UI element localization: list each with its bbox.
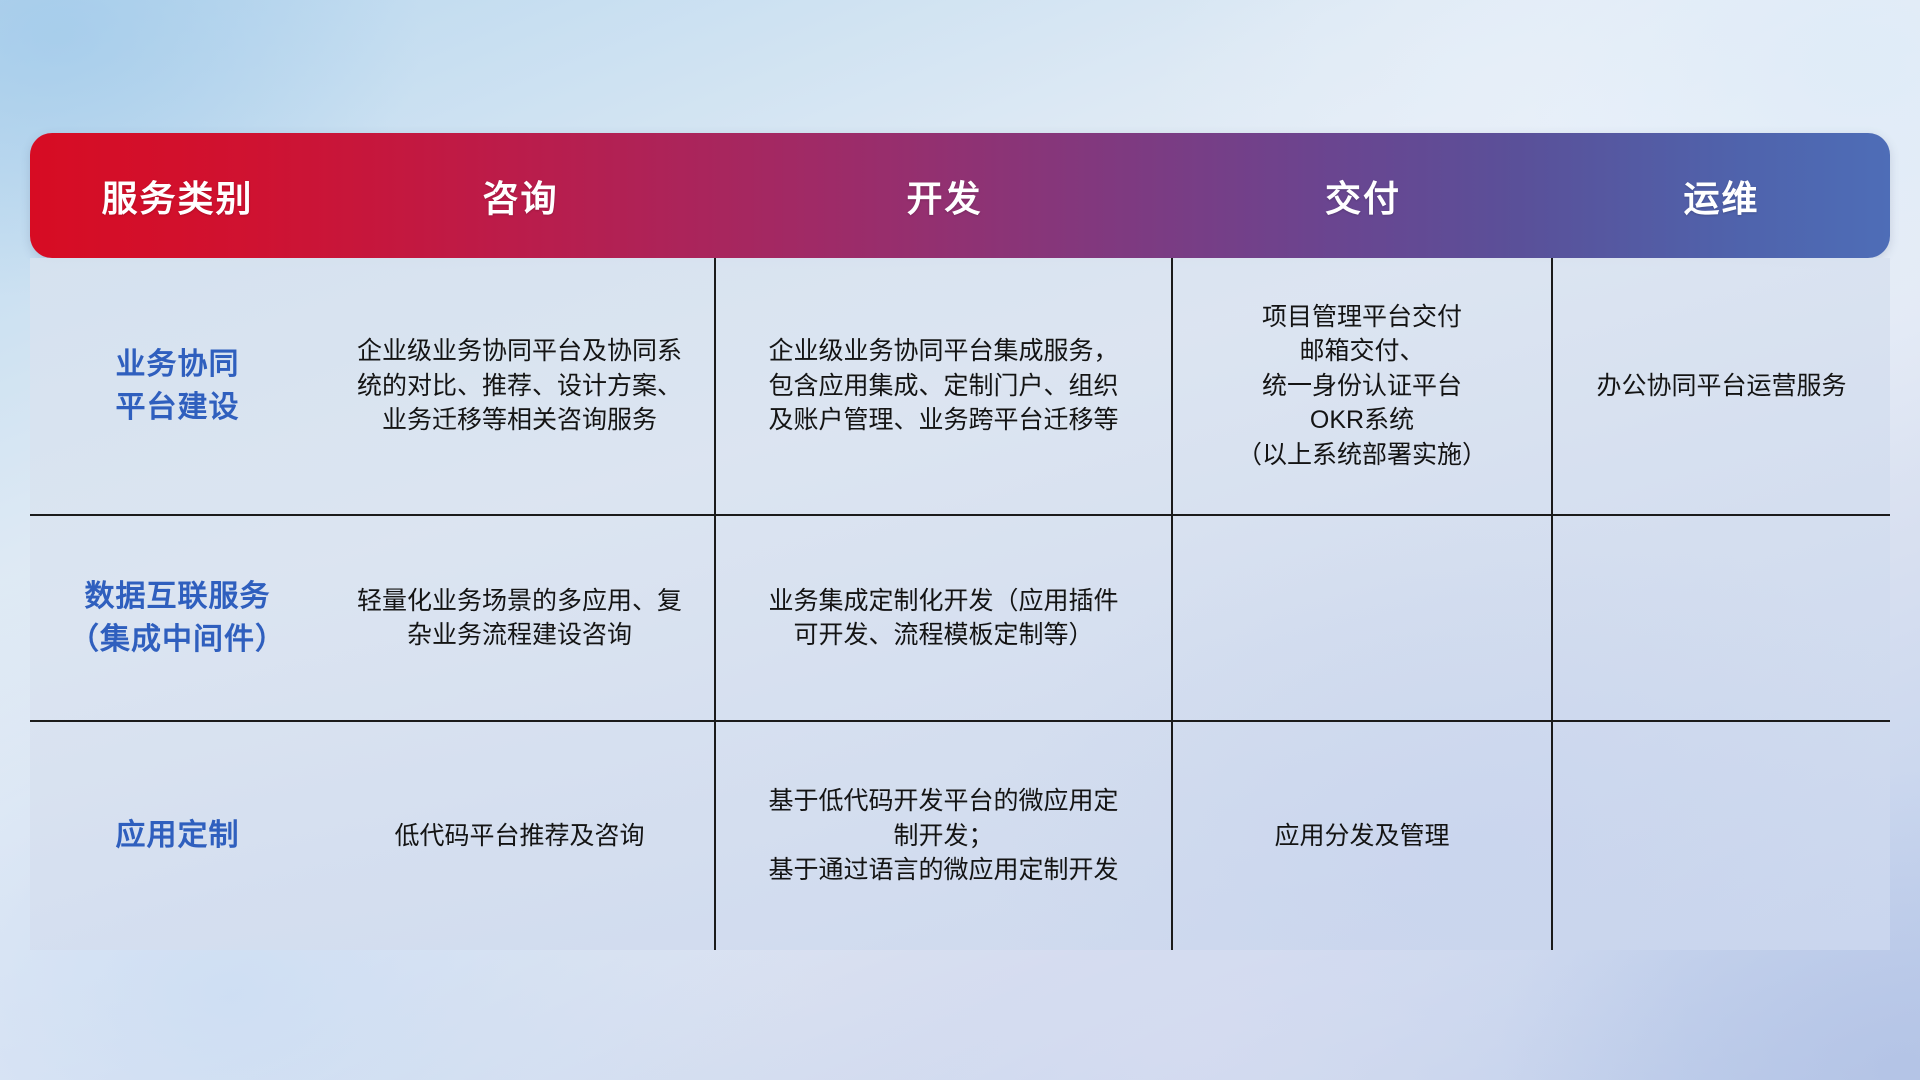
cell-operations	[1553, 516, 1890, 720]
cell-operations	[1553, 722, 1890, 950]
services-matrix-table: 服务类别 咨询 开发 交付 运维 业务协同 平台建设 企业级业务协同平台及协同系…	[30, 133, 1890, 950]
column-header-consulting: 咨询	[325, 170, 716, 222]
category-label: 数据互联服务 （集成中间件）	[69, 575, 286, 662]
row-category-cell: 业务协同 平台建设	[30, 258, 325, 514]
cell-delivery	[1173, 516, 1553, 720]
category-label: 应用定制	[116, 814, 240, 858]
cell-consulting: 低代码平台推荐及咨询	[325, 722, 716, 950]
column-header-operations: 运维	[1553, 170, 1890, 222]
table-row: 业务协同 平台建设 企业级业务协同平台及协同系 统的对比、推荐、设计方案、 业务…	[30, 258, 1890, 516]
column-header-category: 服务类别	[30, 170, 325, 222]
table-row: 应用定制 低代码平台推荐及咨询 基于低代码开发平台的微应用定 制开发； 基于通过…	[30, 722, 1890, 950]
column-header-delivery: 交付	[1173, 170, 1553, 222]
cell-consulting: 轻量化业务场景的多应用、复 杂业务流程建设咨询	[325, 516, 716, 720]
row-category-cell: 应用定制	[30, 722, 325, 950]
cell-development: 业务集成定制化开发（应用插件 可开发、流程模板定制等）	[716, 516, 1173, 720]
cell-delivery: 应用分发及管理	[1173, 722, 1553, 950]
table-row: 数据互联服务 （集成中间件） 轻量化业务场景的多应用、复 杂业务流程建设咨询 业…	[30, 516, 1890, 722]
category-label: 业务协同 平台建设	[116, 343, 240, 430]
row-category-cell: 数据互联服务 （集成中间件）	[30, 516, 325, 720]
column-header-development: 开发	[716, 170, 1173, 222]
table-header-row: 服务类别 咨询 开发 交付 运维	[30, 133, 1890, 258]
slide-canvas: 服务类别 咨询 开发 交付 运维 业务协同 平台建设 企业级业务协同平台及协同系…	[0, 0, 1920, 1080]
cell-delivery: 项目管理平台交付 邮箱交付、 统一身份认证平台 OKR系统 （以上系统部署实施）	[1173, 258, 1553, 514]
table-body: 业务协同 平台建设 企业级业务协同平台及协同系 统的对比、推荐、设计方案、 业务…	[30, 258, 1890, 950]
cell-consulting: 企业级业务协同平台及协同系 统的对比、推荐、设计方案、 业务迁移等相关咨询服务	[325, 258, 716, 514]
cell-development: 企业级业务协同平台集成服务， 包含应用集成、定制门户、组织 及账户管理、业务跨平…	[716, 258, 1173, 514]
cell-operations: 办公协同平台运营服务	[1553, 258, 1890, 514]
cell-development: 基于低代码开发平台的微应用定 制开发； 基于通过语言的微应用定制开发	[716, 722, 1173, 950]
